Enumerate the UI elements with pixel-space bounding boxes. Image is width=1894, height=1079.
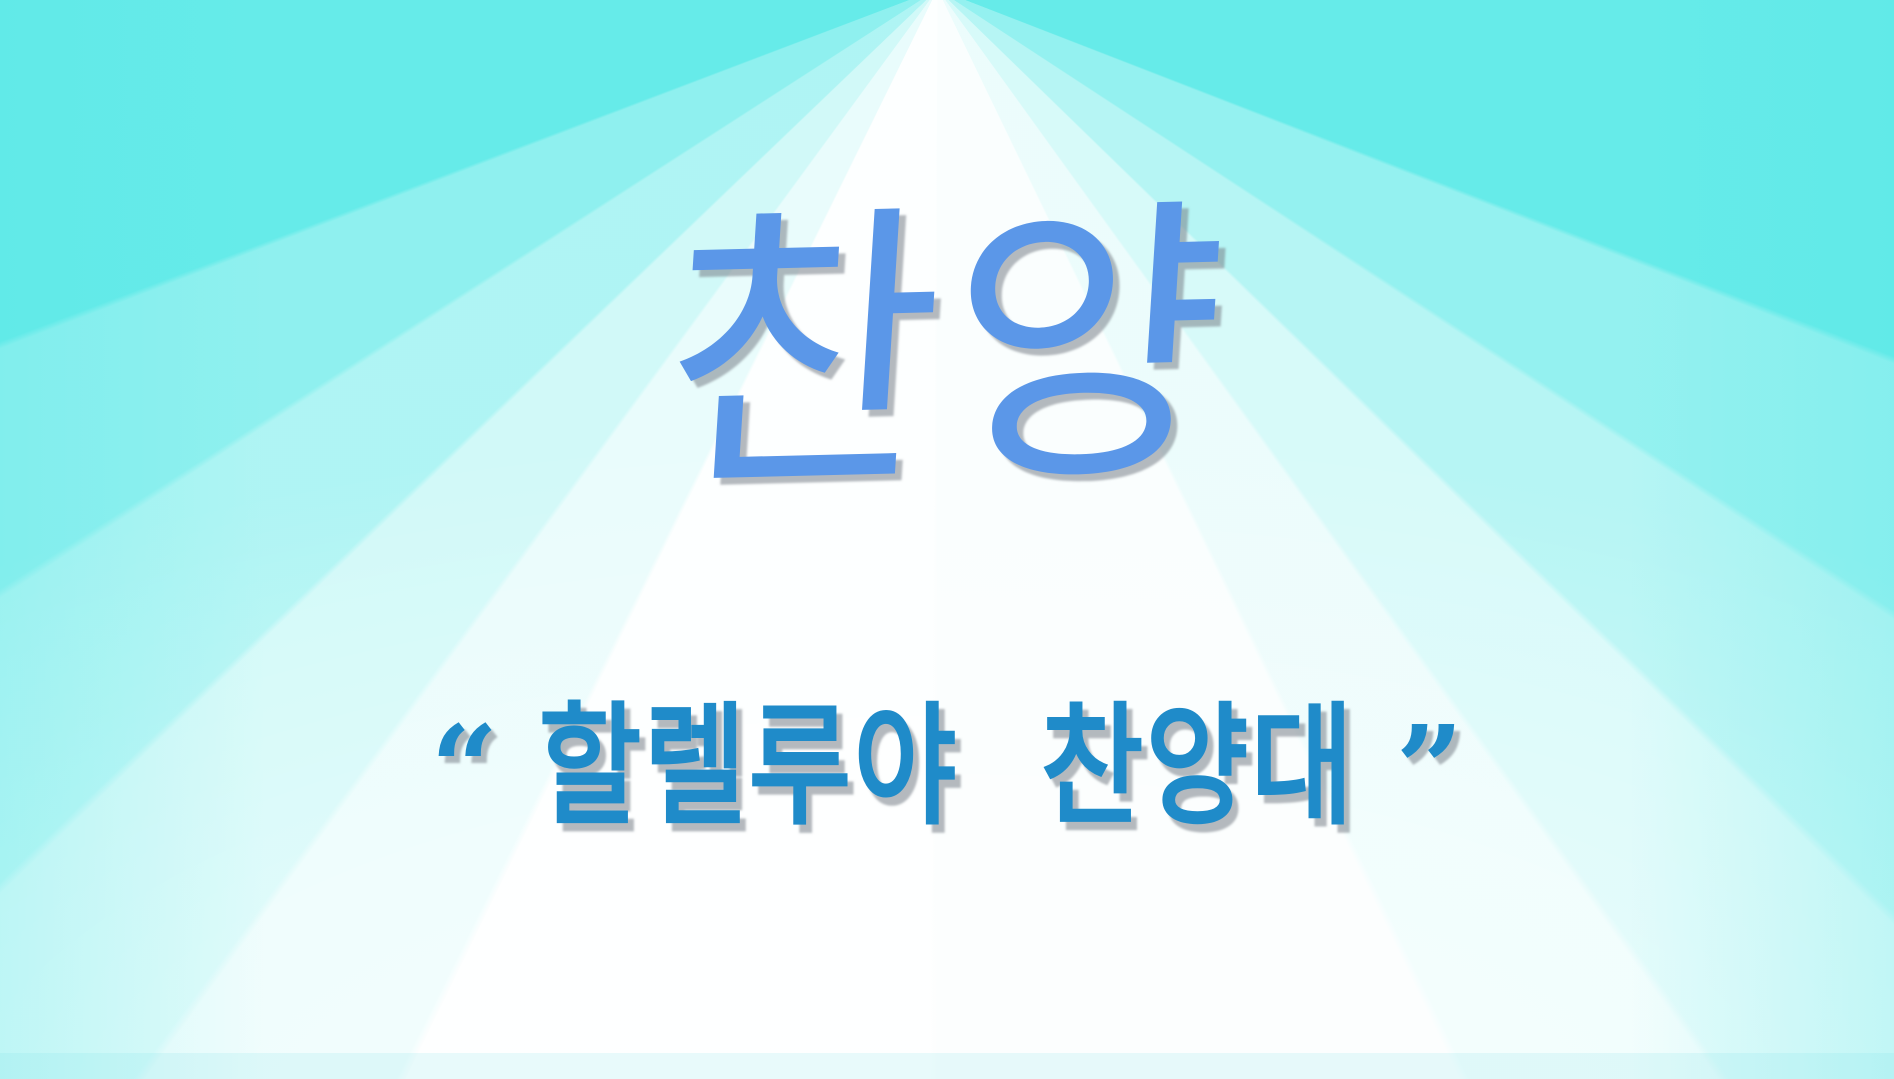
open-quote-icon: “ xyxy=(430,710,498,828)
slide-title: 찬양 xyxy=(0,173,1894,531)
slide-content: 찬양 “ 할렐루야 찬양대 ” xyxy=(0,0,1894,1079)
presentation-slide: 찬양 “ 할렐루야 찬양대 ” xyxy=(0,0,1894,1079)
slide-subtitle-row: “ 할렐루야 찬양대 ” xyxy=(0,700,1894,818)
close-quote-icon: ” xyxy=(1396,710,1464,828)
slide-subtitle: 할렐루야 찬양대 xyxy=(538,700,1355,835)
